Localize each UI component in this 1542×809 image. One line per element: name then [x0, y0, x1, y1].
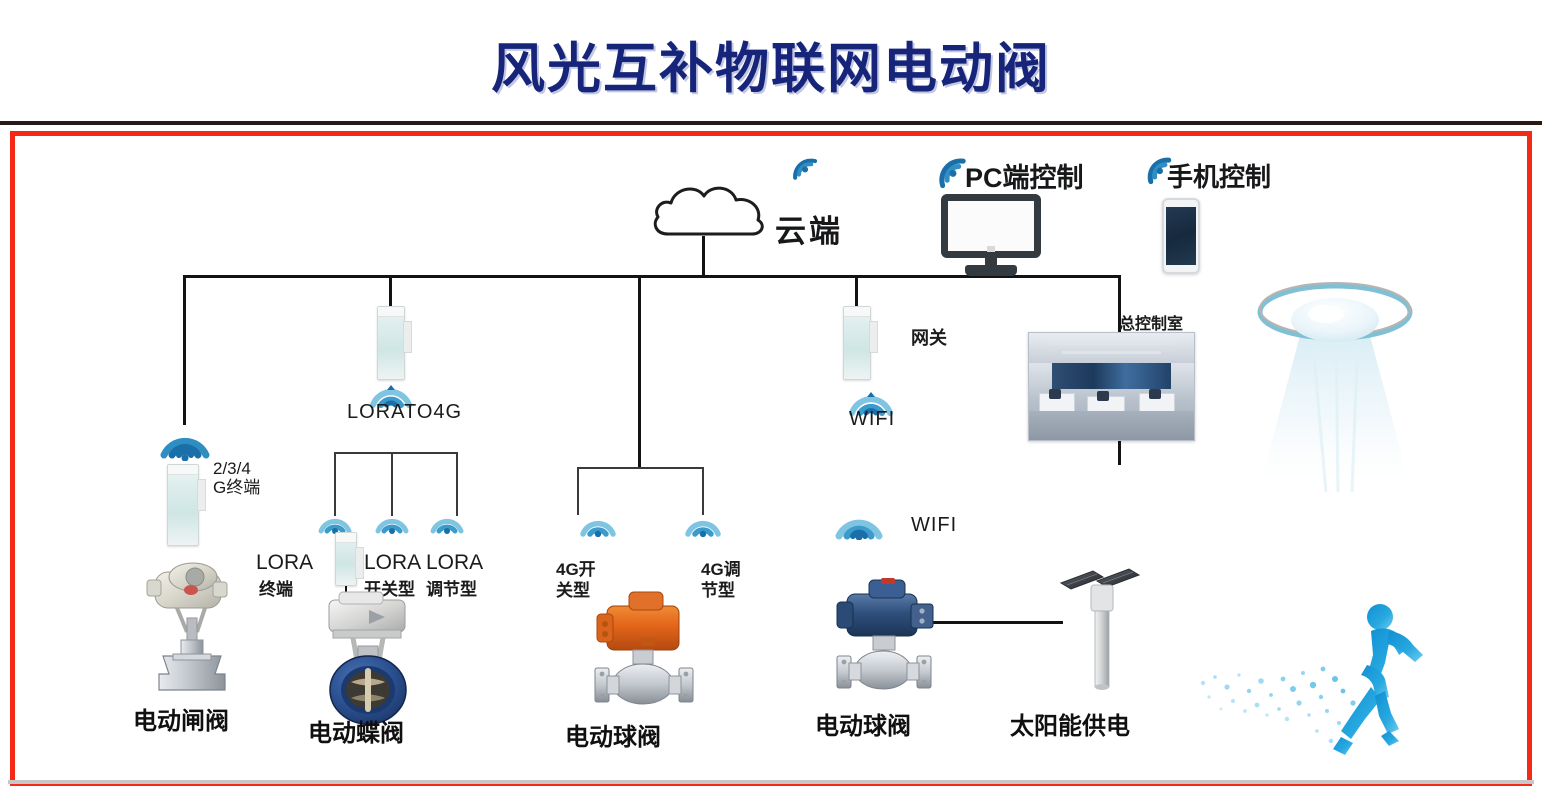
electric-ball-valve-wifi-image: [825, 564, 955, 709]
connector-left-drop: [183, 275, 186, 425]
control-room-photo: [1028, 332, 1195, 441]
lora-to-4g-label: LORATO4G: [347, 401, 462, 424]
device-label-ball-valve-wifi: 电动球阀: [815, 706, 911, 741]
diagram-frame: 云端 PC端控制: [10, 131, 1532, 786]
connector-4g-drop: [638, 275, 641, 468]
smartphone-icon: [1162, 198, 1200, 274]
wifi-icon: [775, 139, 820, 184]
cloud-icon: [650, 176, 770, 243]
connector-lora-1: [334, 452, 336, 516]
terminal-2g3g4g-label: 2/3/4 G终端: [213, 459, 260, 497]
branch-label-lora-terminal-line2: 终端: [259, 575, 293, 600]
electric-butterfly-valve-image: [313, 586, 423, 731]
device-label-ball-valve-4g: 电动球阀: [565, 717, 661, 752]
wifi-icon: [160, 421, 210, 461]
connector-4g-2: [702, 467, 704, 515]
monitor-icon: [941, 194, 1041, 274]
lora-to-4g-modem: [377, 306, 405, 380]
gateway-wifi-label: WIFI: [849, 408, 895, 431]
connector-lora-3: [456, 452, 458, 516]
wifi-icon: [430, 508, 464, 534]
electric-ball-valve-4g-image: [581, 584, 711, 719]
branch-label-lora-terminal-line1: LORA: [256, 551, 313, 575]
pc-control-label: PC端控制: [965, 156, 1084, 195]
device-label-solar: 太阳能供电: [1010, 706, 1130, 741]
connector-lora4g-drop: [389, 275, 392, 307]
connector-gateway-drop: [855, 275, 858, 307]
connector-4g-1: [577, 467, 579, 515]
connector-lora-2: [391, 452, 393, 516]
title-bar: 风光互补物联网电动阀: [0, 0, 1542, 120]
bottom-divider: [8, 780, 1534, 784]
connector-4g-bus: [577, 467, 704, 469]
wifi-icon: [580, 509, 616, 537]
wifi-icon: [835, 504, 883, 540]
branch-label-lora-regulate-line1: LORA: [426, 551, 483, 575]
lora-terminal-module: [335, 532, 357, 586]
terminal-2g3g4g-device: [167, 464, 199, 546]
cloud-label: 云端: [775, 206, 843, 251]
control-room-label: 总控制室: [1119, 310, 1183, 334]
gateway-modem: [843, 306, 871, 380]
device-label-gate-valve: 电动闸阀: [133, 701, 229, 736]
page-title: 风光互补物联网电动阀: [0, 24, 1542, 103]
wifi-icon: [375, 508, 409, 534]
right-wifi-label: WIFI: [911, 514, 957, 537]
phone-control-label: 手机控制: [1167, 157, 1271, 194]
electric-gate-valve-image: [139, 554, 249, 699]
connector-lora-bus: [334, 452, 458, 454]
running-man-icon: [1175, 591, 1405, 741]
wifi-icon: [685, 509, 721, 537]
wifi-icon: [318, 508, 352, 534]
wifi-icon: [917, 139, 969, 191]
gateway-label: 网关: [911, 324, 947, 350]
title-divider: [0, 121, 1542, 125]
branch-label-lora-switch-line1: LORA: [364, 551, 421, 575]
branch-label-lora-regulate-line2: 调节型: [426, 575, 477, 600]
device-label-butterfly-valve: 电动蝶阀: [308, 713, 404, 748]
ufo-beam-icon: [1240, 276, 1400, 506]
solar-power-pole-image: [1055, 561, 1145, 686]
